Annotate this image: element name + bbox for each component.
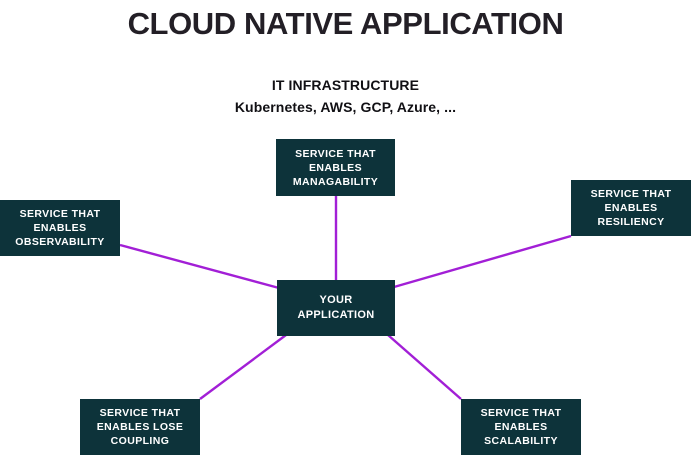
connector-center-to-scalability [388,335,461,399]
connector-center-to-lose-coupling [200,335,286,399]
service-node-resiliency[interactable]: SERVICE THAT ENABLES RESILIENCY [571,180,691,236]
connector-center-to-observability [120,245,279,288]
service-node-lose-coupling-label: SERVICE THAT ENABLES LOSE COUPLING [97,406,183,448]
service-node-managability-label: SERVICE THAT ENABLES MANAGABILITY [293,147,378,189]
connector-center-to-resiliency [394,236,571,287]
service-node-observability[interactable]: SERVICE THAT ENABLES OBSERVABILITY [0,200,120,256]
service-node-lose-coupling[interactable]: SERVICE THAT ENABLES LOSE COUPLING [80,399,200,455]
service-node-scalability-label: SERVICE THAT ENABLES SCALABILITY [481,406,562,448]
service-node-resiliency-label: SERVICE THAT ENABLES RESILIENCY [591,187,672,229]
your-application-label: YOUR APPLICATION [297,293,374,323]
diagram-canvas: CLOUD NATIVE APPLICATION IT INFRASTRUCTU… [0,0,691,458]
service-node-managability[interactable]: SERVICE THAT ENABLES MANAGABILITY [276,139,395,196]
your-application-node[interactable]: YOUR APPLICATION [277,280,395,336]
service-node-scalability[interactable]: SERVICE THAT ENABLES SCALABILITY [461,399,581,455]
service-node-observability-label: SERVICE THAT ENABLES OBSERVABILITY [15,207,104,249]
